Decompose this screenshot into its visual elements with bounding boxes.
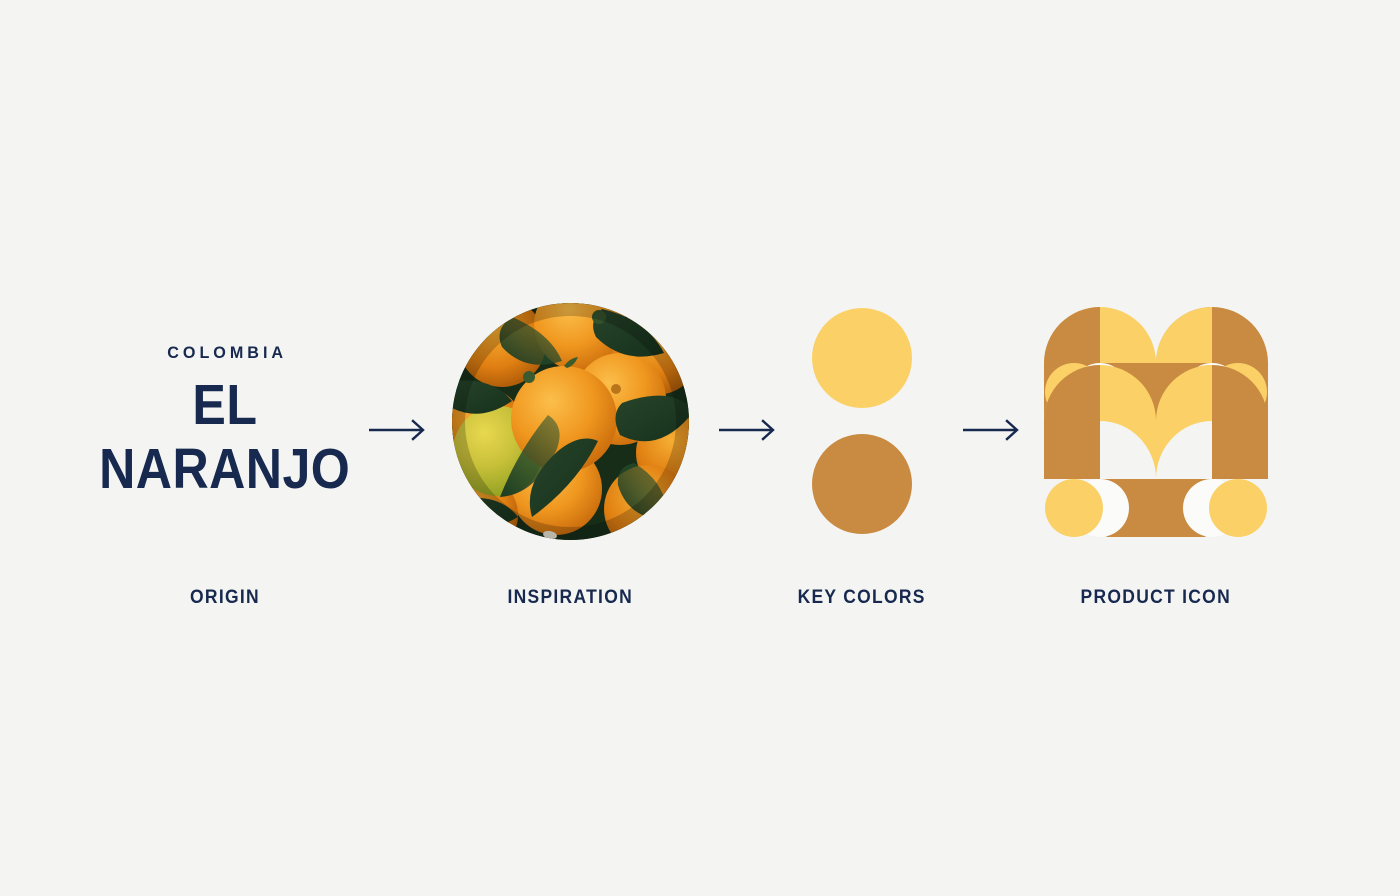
product-icon-visual (1044, 296, 1268, 546)
step-inspiration: INSPIRATION (445, 296, 695, 607)
color-swatch-dark-gold (812, 434, 912, 534)
brand-story-board: COLOMBIA EL NARANJO ORIGIN (0, 0, 1400, 896)
wordmark-line-2: NARANJO (99, 441, 350, 498)
inspiration-photo (452, 303, 689, 540)
origin-wordmark: COLOMBIA EL NARANJO (82, 344, 367, 498)
step-origin: COLOMBIA EL NARANJO ORIGIN (100, 296, 350, 607)
step-product-icon: PRODUCT ICON (1031, 296, 1281, 607)
step-label-key-colors: KEY COLORS (798, 588, 926, 607)
step-key-colors: KEY COLORS (737, 296, 987, 607)
origin-visual: COLOMBIA EL NARANJO (82, 296, 367, 546)
arrow-right-icon (368, 418, 430, 442)
step-label-inspiration: INSPIRATION (507, 588, 633, 607)
key-colors-visual (812, 296, 912, 546)
color-swatch-light-gold (812, 308, 912, 408)
arrow-right-icon (962, 418, 1024, 442)
product-icon-art (1044, 305, 1268, 537)
inspiration-visual (452, 296, 689, 546)
wordmark-eyebrow: COLOMBIA (163, 344, 287, 361)
wordmark-line-1: EL (193, 377, 258, 434)
step-label-product-icon: PRODUCT ICON (1081, 588, 1231, 607)
swatch-stack (812, 308, 912, 534)
step-label-origin: ORIGIN (190, 588, 260, 607)
